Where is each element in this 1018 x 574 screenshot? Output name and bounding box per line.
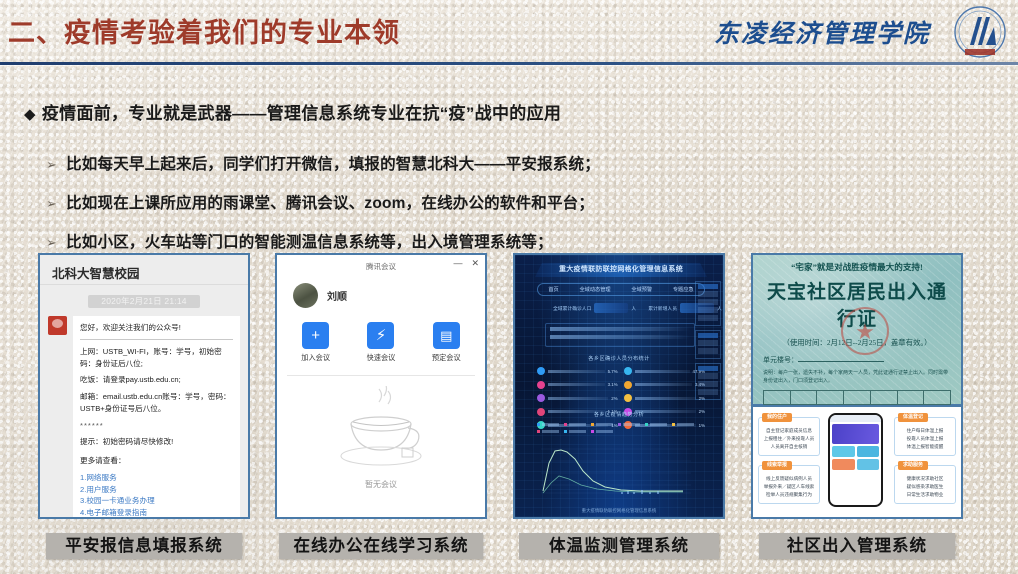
wechat-timestamp: 2020年2月21日 21:14 — [88, 295, 200, 308]
arrow-bullet-icon: ➢ — [46, 157, 57, 173]
caption-dashboard: 体温监测管理系统 — [519, 533, 719, 559]
wechat-more-link[interactable]: 4.电子邮箱登录指南 — [80, 507, 233, 519]
school-name: 东凌经济管理学院 — [714, 14, 930, 50]
quadrant-residents: 我的住户 自主登记家庭成员信息 上报租住／外来投靠人员 人员离开自主核销 — [758, 417, 820, 456]
table-row: 3.1% 3.4% — [537, 381, 705, 389]
quadrant-item: 上报租住／外来投靠人员 — [762, 435, 816, 443]
region-bar — [548, 397, 608, 400]
quadrant-item: 线上反馈疑似病例人员 — [762, 475, 816, 483]
region-bar — [635, 383, 692, 386]
quadrant-temperature: 体温登记 住户每日体温上报 投靠人员体温上报 体温上报智能提醒 — [894, 417, 956, 456]
community-app-infographic: 我的住户 自主登记家庭成员信息 上报租住／外来投靠人员 人员离开自主核销 体温登… — [753, 407, 961, 515]
avatar — [293, 283, 318, 308]
list-item: ➢ 比如现在上课所应用的雨课堂、腾讯会议、zoom，在线办公的软件和平台； — [46, 191, 600, 213]
region-bar — [548, 370, 605, 373]
dashboard-nav-item[interactable]: 首页 — [548, 286, 558, 293]
dashboard-news-item — [550, 335, 690, 339]
dashboard-section-low: 各乡区疫情趋势分析 — [515, 411, 723, 418]
tm-quick-label: 快速会议 — [354, 353, 408, 363]
dashboard-legend — [537, 423, 707, 433]
table-row: 5.7% 47.9% — [537, 367, 705, 375]
quadrant-item: 检举人员违规聚集行为 — [762, 491, 816, 499]
tm-empty-text: 暂无会议 — [277, 479, 485, 490]
phone-tile-row — [832, 459, 879, 470]
dashboard-nav-item[interactable]: 全域动态管理 — [579, 286, 610, 293]
list-item-text: 比如小区，火车站等门口的智能测温信息系统等，出入境管理系统等； — [66, 230, 553, 252]
arrow-bullet-icon: ➢ — [46, 196, 57, 212]
pass-unit-field: 单元楼号： — [763, 355, 951, 365]
region-bar — [548, 383, 605, 386]
region-dot-icon — [624, 367, 632, 375]
region-dot-icon — [537, 394, 545, 402]
tm-join-meeting-button[interactable]: + 加入会议 — [289, 322, 343, 363]
quadrant-item: 疑似感染求助医生 — [898, 483, 952, 491]
minimize-icon[interactable]: — — [453, 259, 462, 268]
panel-community-pass-screenshot[interactable]: “宅家”就是对战胜疫情最大的支持! 天宝社区居民出入通行证 （使用时间：2月12… — [751, 253, 963, 519]
list-item: ➢ 比如小区，火车站等门口的智能测温信息系统等，出入境管理系统等； — [46, 230, 600, 252]
region-dot-icon — [537, 381, 545, 389]
quadrant-title: 求助服务 — [898, 461, 928, 470]
diamond-bullet-icon: ◆ — [24, 106, 36, 123]
table-row: 2% 2% — [537, 394, 705, 402]
region-pct: 3.1% — [608, 382, 618, 387]
pass-checkbox-grid — [763, 390, 951, 405]
wechat-avatar — [48, 316, 67, 335]
quadrant-item: 日常生活求助物业 — [898, 491, 952, 499]
wechat-message-row: 您好，欢迎关注我们的公众号! 上网：USTB_WI-FI，账号：学号，初始密码：… — [40, 316, 248, 519]
tm-join-label: 加入会议 — [289, 353, 343, 363]
page-title: 二、疫情考验着我们的专业本领 — [8, 11, 400, 50]
phone-tile-row — [832, 446, 879, 457]
community-pass-card: “宅家”就是对战胜疫情最大的支持! 天宝社区居民出入通行证 （使用时间：2月12… — [753, 255, 961, 407]
dashboard-stat-unit: 人 — [631, 305, 636, 312]
wechat-line-stars: ****** — [80, 420, 233, 432]
list-item: ➢ 比如每天早上起来后，同学们打开微信，填报的智慧北科大——平安报系统； — [46, 152, 600, 174]
bolt-icon: ⚡ — [367, 322, 394, 349]
pass-note: 说明：每户一张，遗失不补，每个家两天一人员，凭此证通行证禁止出入。同时需带身份证… — [763, 370, 951, 385]
tm-empty-state: 暂无会议 — [277, 376, 485, 490]
dashboard-stat-label: 累计新增人员 — [648, 305, 677, 312]
region-dot-icon — [624, 381, 632, 389]
ustb-dongling-logo-icon — [952, 5, 1008, 61]
quadrant-item: 人员离开自主核销 — [762, 443, 816, 451]
region-bar — [635, 370, 689, 373]
wechat-line-tip: 提示：初始密码请尽快修改! — [80, 436, 233, 448]
header-rule-highlight — [0, 65, 1018, 66]
quadrant-title: 我的住户 — [762, 413, 792, 422]
wechat-line-mail: 邮箱：email.ustb.edu.cn账号：学号，密码：USTB+身份证号后八… — [80, 391, 233, 415]
wechat-more-title: 更多请查看： — [80, 455, 233, 467]
quadrant-item: 自主登记家庭成员信息 — [762, 427, 816, 435]
wechat-greeting: 您好，欢迎关注我们的公众号! — [80, 322, 233, 334]
caption-wechat: 平安报信息填报系统 — [46, 533, 242, 559]
phone-statusbar — [830, 415, 881, 422]
tm-schedule-label: 预定会议 — [419, 353, 473, 363]
pass-slogan-top: “宅家”就是对战胜疫情最大的支持! — [763, 261, 951, 273]
wechat-line-pay: 吃饭：请登录pay.ustb.edu.cn; — [80, 374, 233, 386]
wechat-more-block: 更多请查看： 1.网络服务 2.用户服务 3.校园一卡通业务办理 4.电子邮箱登… — [80, 455, 233, 519]
wechat-more-link[interactable]: 1.网络服务 — [80, 472, 233, 484]
tm-titlebar: 腾讯会议 — ✕ — [277, 255, 485, 277]
quadrant-help: 求助服务 健康状况求助社区 疑似感染求助医生 日常生活求助物业 — [894, 465, 956, 504]
region-dot-icon — [537, 367, 545, 375]
dashboard-stat: 全域累计确诊人口 人 — [553, 303, 636, 313]
phone-mockup — [828, 413, 883, 507]
quadrant-report: 线索举报 线上反馈疑似病例人员 举报外来／疑区人车线索 检举人员违规聚集行为 — [758, 465, 820, 504]
region-pct: 2% — [611, 396, 617, 401]
slide-header: 二、疫情考验着我们的专业本领 东凌经济管理学院 — [0, 0, 1018, 64]
list-item-text: 比如现在上课所应用的雨课堂、腾讯会议、zoom，在线办公的软件和平台； — [66, 191, 594, 213]
bullet-list: ➢ 比如每天早上起来后，同学们打开微信，填报的智慧北科大——平安报系统； ➢ 比… — [46, 152, 600, 269]
calendar-icon: ▤ — [433, 322, 460, 349]
dashboard-stat-value — [594, 303, 628, 313]
dashboard-footer: 重大疫情联防联控网格化管理信息系统 — [515, 508, 723, 514]
main-point-text: 疫情面前，专业就是武器——管理信息系统专业在抗“疫”战中的应用 — [42, 104, 561, 123]
region-dot-icon — [624, 394, 632, 402]
quadrant-item: 举报外来／疑区人车线索 — [762, 483, 816, 491]
region-bar — [635, 397, 695, 400]
main-point: ◆疫情面前，专业就是武器——管理信息系统专业在抗“疫”战中的应用 — [24, 99, 561, 124]
wechat-more-link[interactable]: 3.校园一卡通业务办理 — [80, 495, 233, 507]
dashboard-nav-item[interactable]: 全域预警 — [631, 286, 652, 293]
wechat-account-name: 北科大智慧校园 — [40, 255, 248, 285]
dashboard-news-panel[interactable] — [545, 323, 695, 347]
quadrant-item: 体温上报智能提醒 — [898, 443, 952, 451]
wechat-message-bubble: 您好，欢迎关注我们的公众号! 上网：USTB_WI-FI，账号：学号，初始密码：… — [73, 316, 240, 519]
tm-schedule-meeting-button[interactable]: ▤ 预定会议 — [419, 322, 473, 363]
dashboard-nav[interactable]: 首页 全域动态管理 全域预警 专题应急 — [537, 283, 705, 296]
panel-tencent-meeting-screenshot[interactable]: 腾讯会议 — ✕ 刘顺 + 加入会议 ⚡ 快速会议 ▤ 预定会议 — [275, 253, 487, 519]
caption-tencent-meeting: 在线办公在线学习系统 — [279, 533, 483, 559]
dashboard-news-item — [550, 327, 690, 331]
quadrant-item: 住户每日体温上报 — [898, 427, 952, 435]
dashboard-stat-label: 全域累计确诊人口 — [553, 305, 591, 312]
coffee-cup-icon — [326, 386, 436, 474]
quadrant-title: 线索举报 — [762, 461, 792, 470]
wechat-line-wifi: 上网：USTB_WI-FI，账号：学号，初始密码：身份证后八位; — [80, 346, 233, 370]
panel-epidemic-dashboard-screenshot[interactable]: 重大疫情联防联控网格化管理信息系统 首页 全域动态管理 全域预警 专题应急 全域… — [513, 253, 725, 519]
caption-community-pass: 社区出入管理系统 — [759, 533, 955, 559]
panel-wechat-screenshot[interactable]: 北科大智慧校园 2020年2月21日 21:14 您好，欢迎关注我们的公众号! … — [38, 253, 250, 519]
official-seal-icon: ★ — [841, 307, 889, 355]
dashboard-trend-chart — [531, 443, 691, 499]
tm-user-name: 刘顺 — [327, 288, 347, 303]
dashboard-nav-item[interactable]: 专题应急 — [673, 286, 694, 293]
quadrant-item: 投靠人员体温上报 — [898, 435, 952, 443]
quadrant-item: 健康状况求助社区 — [898, 475, 952, 483]
divider — [80, 339, 233, 340]
wechat-more-link[interactable]: 2.用户服务 — [80, 484, 233, 496]
quadrant-title: 体温登记 — [898, 413, 928, 422]
tm-user-row: 刘顺 — [277, 277, 485, 308]
tm-quick-meeting-button[interactable]: ⚡ 快速会议 — [354, 322, 408, 363]
dashboard-sidebar — [695, 281, 721, 404]
dashboard-title: 重大疫情联防联控网格化管理信息系统 — [535, 263, 707, 277]
close-icon[interactable]: ✕ — [471, 259, 479, 268]
phone-hero-banner — [832, 424, 879, 444]
arrow-bullet-icon: ➢ — [46, 235, 57, 251]
region-pct: 5.7% — [608, 369, 618, 374]
tm-action-row: + 加入会议 ⚡ 快速会议 ▤ 预定会议 — [277, 308, 485, 375]
plus-icon: + — [302, 322, 329, 349]
dashboard-section-mid: 各乡区确诊人员分布统计 — [515, 355, 723, 362]
pass-unit-label: 单元楼号： — [763, 356, 798, 364]
list-item-text: 比如每天早上起来后，同学们打开微信，填报的智慧北科大——平安报系统； — [66, 152, 600, 174]
tm-window-title: 腾讯会议 — [366, 261, 396, 272]
